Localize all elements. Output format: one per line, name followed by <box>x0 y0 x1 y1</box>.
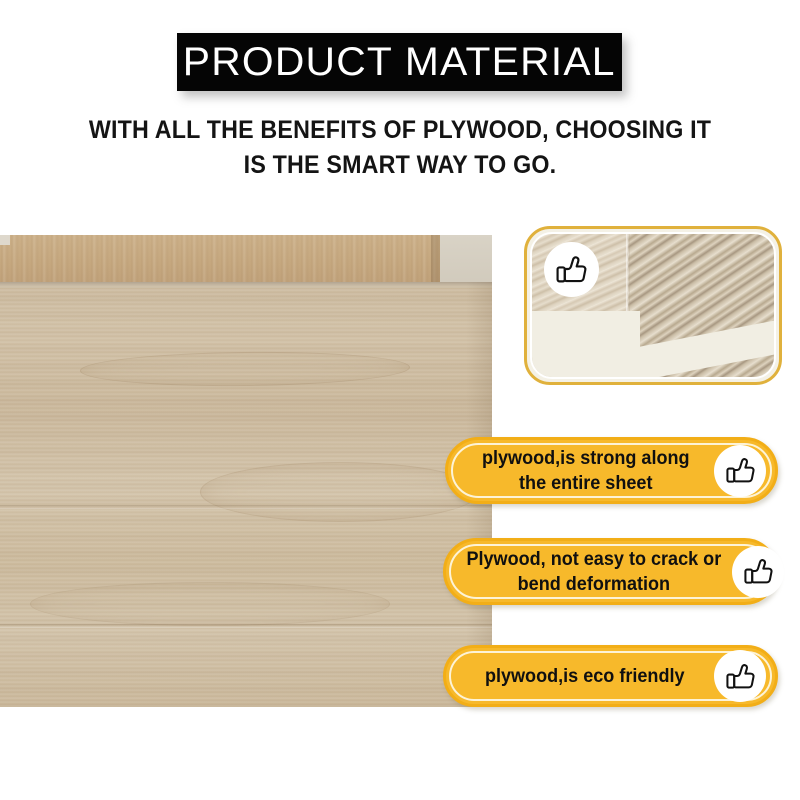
feature-pill-strength[interactable]: plywood,is strong along the entire sheet <box>445 437 778 504</box>
feature-pill-line: Plywood, not easy to crack or <box>466 547 721 572</box>
feature-pill-line: plywood,is eco friendly <box>466 664 704 689</box>
feature-pill-durability[interactable]: Plywood, not easy to crack or bend defor… <box>443 538 778 605</box>
subtitle: WITH ALL THE BENEFITS OF PLYWOOD, CHOOSI… <box>79 113 721 183</box>
product-material-infographic: PRODUCT MATERIAL WITH ALL THE BENEFITS O… <box>0 0 800 800</box>
wood-grain-accent <box>200 462 480 522</box>
subtitle-line-1: WITH ALL THE BENEFITS OF PLYWOOD, CHOOSI… <box>79 113 721 148</box>
thumbs-up-icon <box>732 546 784 598</box>
plywood-photo-panel <box>524 226 782 385</box>
page-title: PRODUCT MATERIAL <box>183 42 616 82</box>
drawer-seam <box>0 505 492 509</box>
feature-pill-label: Plywood, not easy to crack or bend defor… <box>453 547 725 597</box>
feature-pill-line: the entire sheet <box>468 471 704 496</box>
feature-pill-line: plywood,is strong along <box>468 446 704 471</box>
cabinet-interior-panel <box>0 235 461 289</box>
cabinet-front-panels <box>0 282 492 707</box>
furniture-photo <box>0 235 492 707</box>
feature-pill-label: plywood,is eco friendly <box>453 664 708 689</box>
thumbs-up-icon <box>714 445 766 497</box>
subtitle-line-2: IS THE SMART WAY TO GO. <box>79 148 721 183</box>
drawer-seam <box>0 282 492 287</box>
drawer-seam <box>0 624 492 628</box>
thumbs-up-icon <box>544 242 599 297</box>
plywood-backdrop <box>530 311 640 379</box>
feature-pill-line: bend deformation <box>466 572 721 597</box>
cabinet-top-lip <box>0 235 10 245</box>
feature-pill-eco[interactable]: plywood,is eco friendly <box>443 645 778 707</box>
title-banner: PRODUCT MATERIAL <box>177 33 622 91</box>
wood-grain-accent <box>80 350 410 387</box>
thumbs-up-icon <box>714 650 766 702</box>
wood-grain-accent <box>30 582 390 626</box>
feature-pill-label: plywood,is strong along the entire sheet <box>455 446 708 496</box>
